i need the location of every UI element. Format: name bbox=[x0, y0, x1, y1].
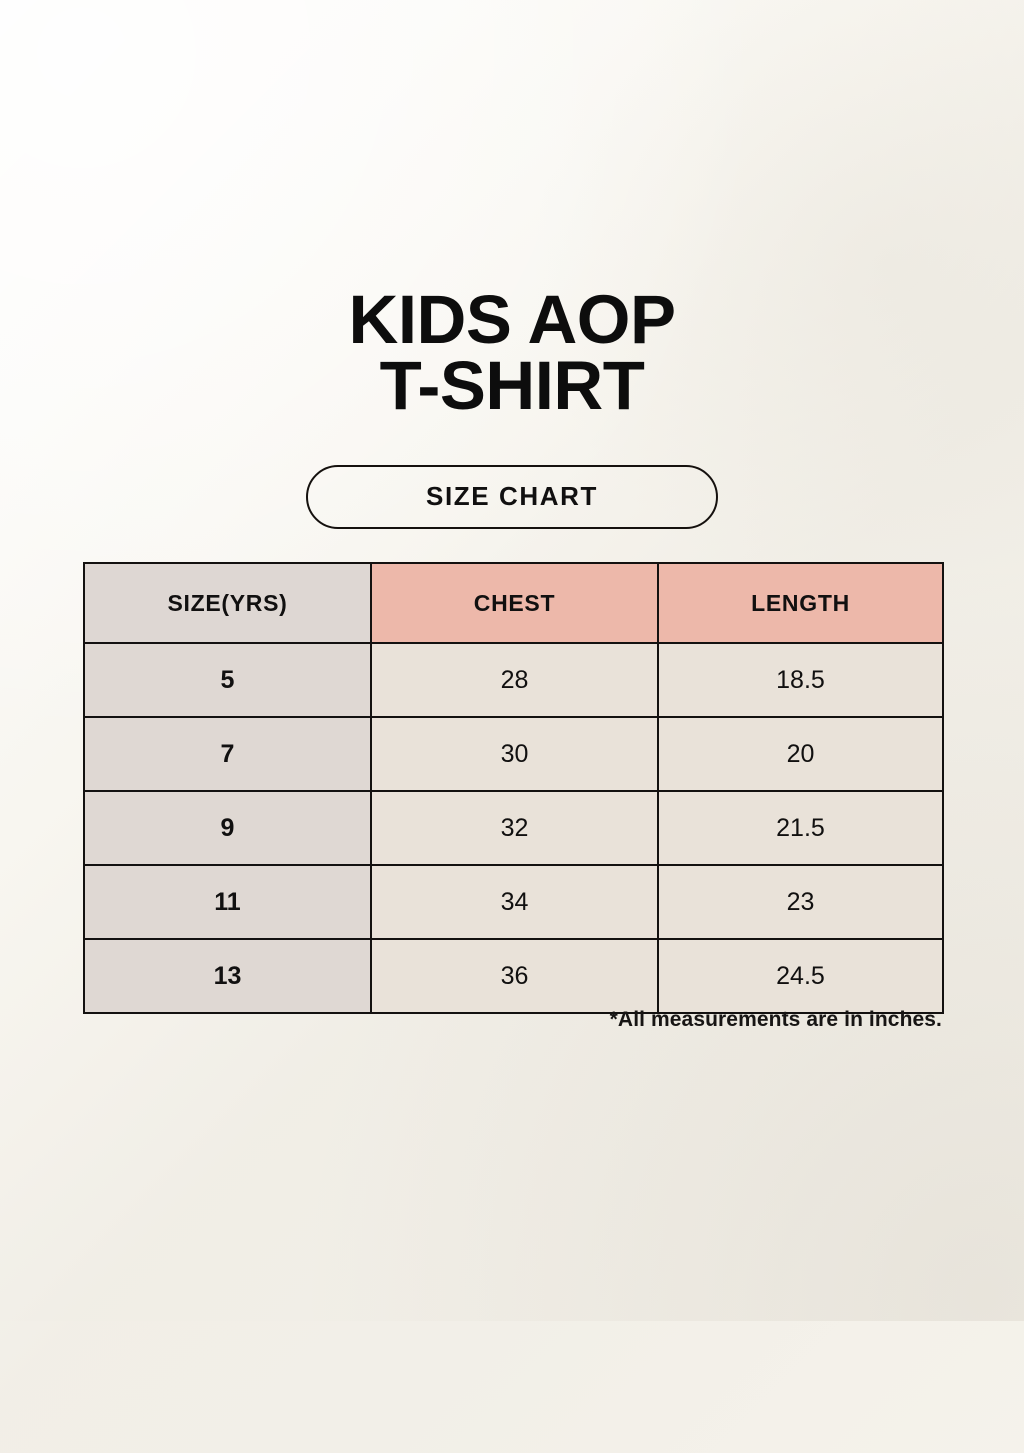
table-row: 5 28 18.5 bbox=[84, 643, 943, 717]
cell-length: 21.5 bbox=[658, 791, 943, 865]
size-chart-badge-container: SIZE CHART bbox=[0, 465, 1024, 529]
table-header-row: SIZE(YRS) CHEST LENGTH bbox=[84, 563, 943, 643]
column-header-chest: CHEST bbox=[371, 563, 658, 643]
table-row: 7 30 20 bbox=[84, 717, 943, 791]
size-chart-page: KIDS AOP T-SHIRT SIZE CHART SIZE(YRS) CH… bbox=[0, 0, 1024, 1321]
cell-length: 24.5 bbox=[658, 939, 943, 1013]
cell-chest: 36 bbox=[371, 939, 658, 1013]
table-header: SIZE(YRS) CHEST LENGTH bbox=[84, 563, 943, 643]
table-row: 13 36 24.5 bbox=[84, 939, 943, 1013]
cell-chest: 32 bbox=[371, 791, 658, 865]
cell-length: 18.5 bbox=[658, 643, 943, 717]
cell-length: 23 bbox=[658, 865, 943, 939]
cell-chest: 34 bbox=[371, 865, 658, 939]
cell-length: 20 bbox=[658, 717, 943, 791]
measurement-units-note: *All measurements are in inches. bbox=[83, 1008, 942, 1032]
table-row: 11 34 23 bbox=[84, 865, 943, 939]
cell-size: 11 bbox=[84, 865, 371, 939]
cell-size: 7 bbox=[84, 717, 371, 791]
cell-chest: 28 bbox=[371, 643, 658, 717]
table-body: 5 28 18.5 7 30 20 9 32 21.5 11 34 23 13 bbox=[84, 643, 943, 1013]
cell-chest: 30 bbox=[371, 717, 658, 791]
column-header-length: LENGTH bbox=[658, 563, 943, 643]
cell-size: 9 bbox=[84, 791, 371, 865]
table-row: 9 32 21.5 bbox=[84, 791, 943, 865]
page-title-line-2: T-SHIRT bbox=[0, 353, 1024, 419]
page-title-line-1: KIDS AOP bbox=[0, 287, 1024, 353]
size-chart-badge: SIZE CHART bbox=[306, 465, 718, 529]
page-title: KIDS AOP T-SHIRT bbox=[0, 287, 1024, 419]
column-header-size: SIZE(YRS) bbox=[84, 563, 371, 643]
cell-size: 13 bbox=[84, 939, 371, 1013]
cell-size: 5 bbox=[84, 643, 371, 717]
size-chart-table: SIZE(YRS) CHEST LENGTH 5 28 18.5 7 30 20… bbox=[83, 562, 944, 1014]
